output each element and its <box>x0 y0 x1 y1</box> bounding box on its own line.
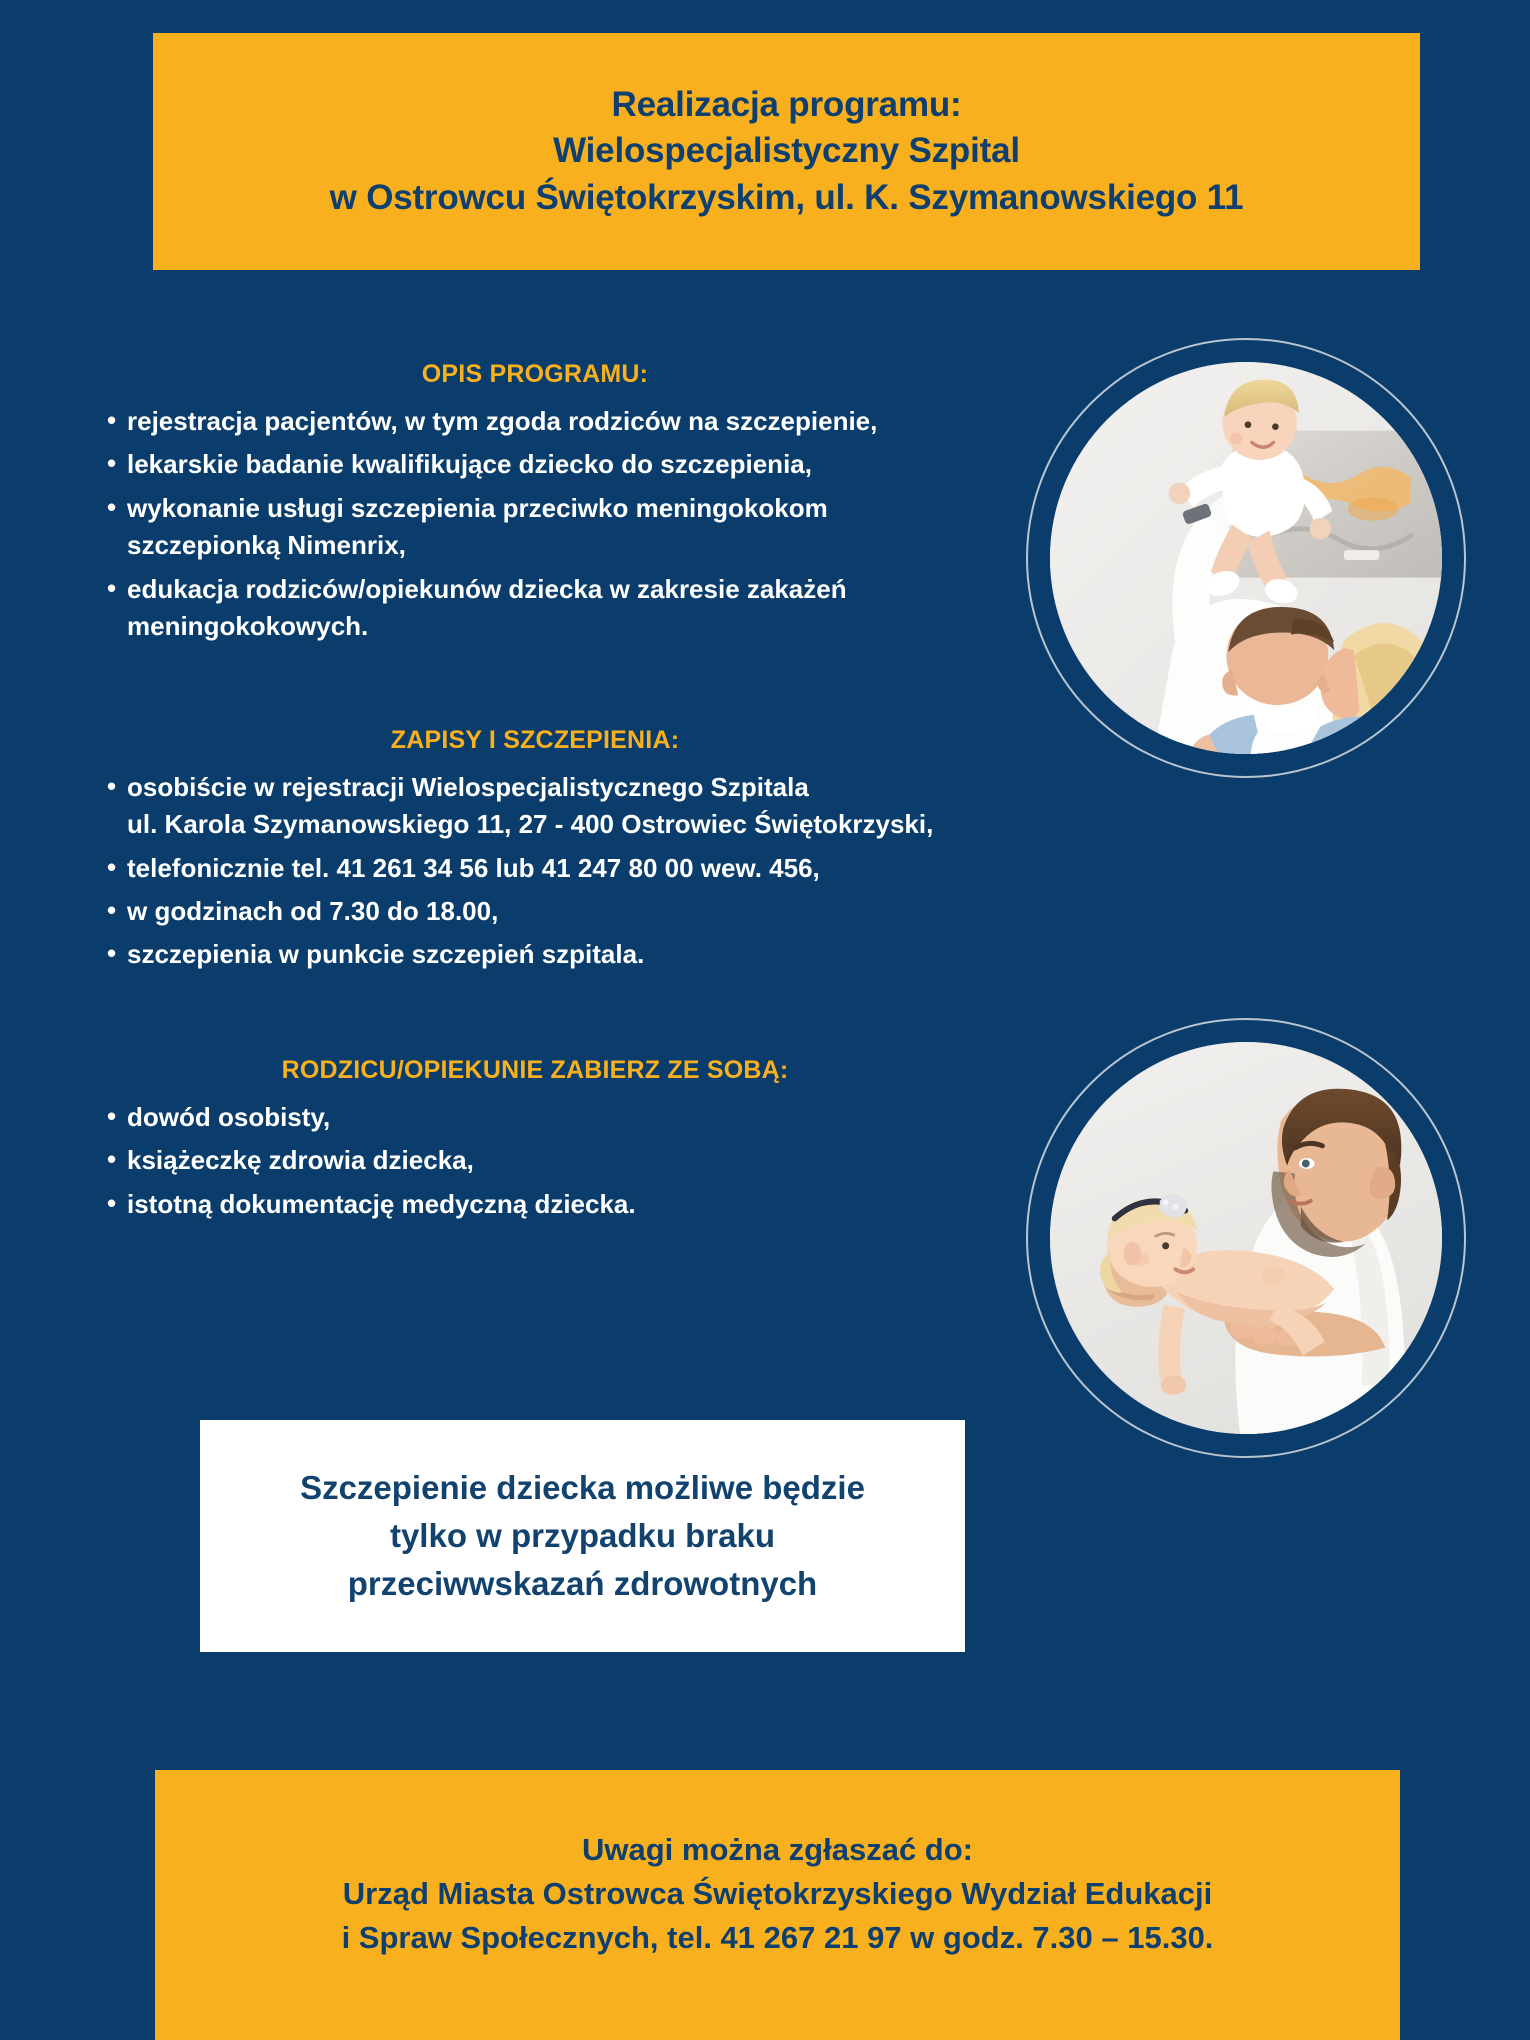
list-item: istotną dokumentację medyczną dziecka. <box>105 1186 1005 1223</box>
list-item: książeczkę zdrowia dziecka, <box>105 1142 1005 1179</box>
callout-box: Szczepienie dziecka możliwe będzie tylko… <box>200 1420 965 1652</box>
list-item: dowód osobisty, <box>105 1099 1005 1136</box>
list-zapisy-i-szczepienia: osobiście w rejestracji Wielospecjalisty… <box>105 769 1005 974</box>
content-column: OPIS PROGRAMU: rejestracja pacjentów, w … <box>105 360 1005 1237</box>
section-spacer <box>105 988 1005 1056</box>
list-item: lekarskie badanie kwalifikujące dziecko … <box>105 446 1005 483</box>
header-banner: Realizacja programu: Wielospecjalistyczn… <box>153 33 1420 270</box>
family-lifting-baby-illustration <box>1050 362 1442 754</box>
father-holding-baby-illustration <box>1050 1042 1442 1434</box>
list-item: rejestracja pacjentów, w tym zgoda rodzi… <box>105 403 1005 440</box>
section-spacer <box>105 660 1005 726</box>
footer-line-2: Urząd Miasta Ostrowca Świętokrzyskiego W… <box>343 1872 1212 1916</box>
header-title-line-2: Wielospecjalistyczny Szpital <box>553 128 1020 174</box>
family-lifting-baby-photo <box>1026 338 1466 778</box>
list-item: szczepienia w punkcie szczepień szpitala… <box>105 936 1005 973</box>
section-title-rodzicu-opiekunie: RODZICU/OPIEKUNIE ZABIERZ ZE SOBĄ: <box>105 1056 1005 1085</box>
header-title-line-1: Realizacja programu: <box>612 82 962 128</box>
section-rodzicu-opiekunie: RODZICU/OPIEKUNIE ZABIERZ ZE SOBĄ: dowód… <box>105 1056 1005 1223</box>
list-opis-programu: rejestracja pacjentów, w tym zgoda rodzi… <box>105 403 1005 646</box>
footer-line-3: i Spraw Społecznych, tel. 41 267 21 97 w… <box>342 1916 1214 1960</box>
callout-line-2: tylko w przypadku braku <box>390 1512 775 1560</box>
list-item: telefonicznie tel. 41 261 34 56 lub 41 2… <box>105 850 1005 887</box>
section-opis-programu: OPIS PROGRAMU: rejestracja pacjentów, w … <box>105 360 1005 646</box>
section-zapisy-i-szczepienia: ZAPISY I SZCZEPIENIA: osobiście w rejest… <box>105 726 1005 974</box>
footer-line-1: Uwagi można zgłaszać do: <box>582 1828 973 1872</box>
list-item: w godzinach od 7.30 do 18.00, <box>105 893 1005 930</box>
list-item: wykonanie usługi szczepienia przeciwko m… <box>105 490 1005 565</box>
photo-clip <box>1050 362 1442 754</box>
section-title-opis-programu: OPIS PROGRAMU: <box>105 360 1005 389</box>
callout-line-1: Szczepienie dziecka możliwe będzie <box>300 1464 865 1512</box>
list-item: osobiście w rejestracji Wielospecjalisty… <box>105 769 1005 844</box>
footer-banner: Uwagi można zgłaszać do: Urząd Miasta Os… <box>155 1770 1400 2040</box>
header-title-line-3: w Ostrowcu Świętokrzyskim, ul. K. Szyman… <box>330 175 1244 221</box>
father-holding-baby-photo <box>1026 1018 1466 1458</box>
list-item: edukacja rodziców/opiekunów dziecka w za… <box>105 571 1005 646</box>
section-title-zapisy-i-szczepienia: ZAPISY I SZCZEPIENIA: <box>105 726 1005 755</box>
photo-clip <box>1050 1042 1442 1434</box>
callout-line-3: przeciwwskazań zdrowotnych <box>348 1560 817 1608</box>
list-rodzicu-opiekunie: dowód osobisty, książeczkę zdrowia dziec… <box>105 1099 1005 1223</box>
